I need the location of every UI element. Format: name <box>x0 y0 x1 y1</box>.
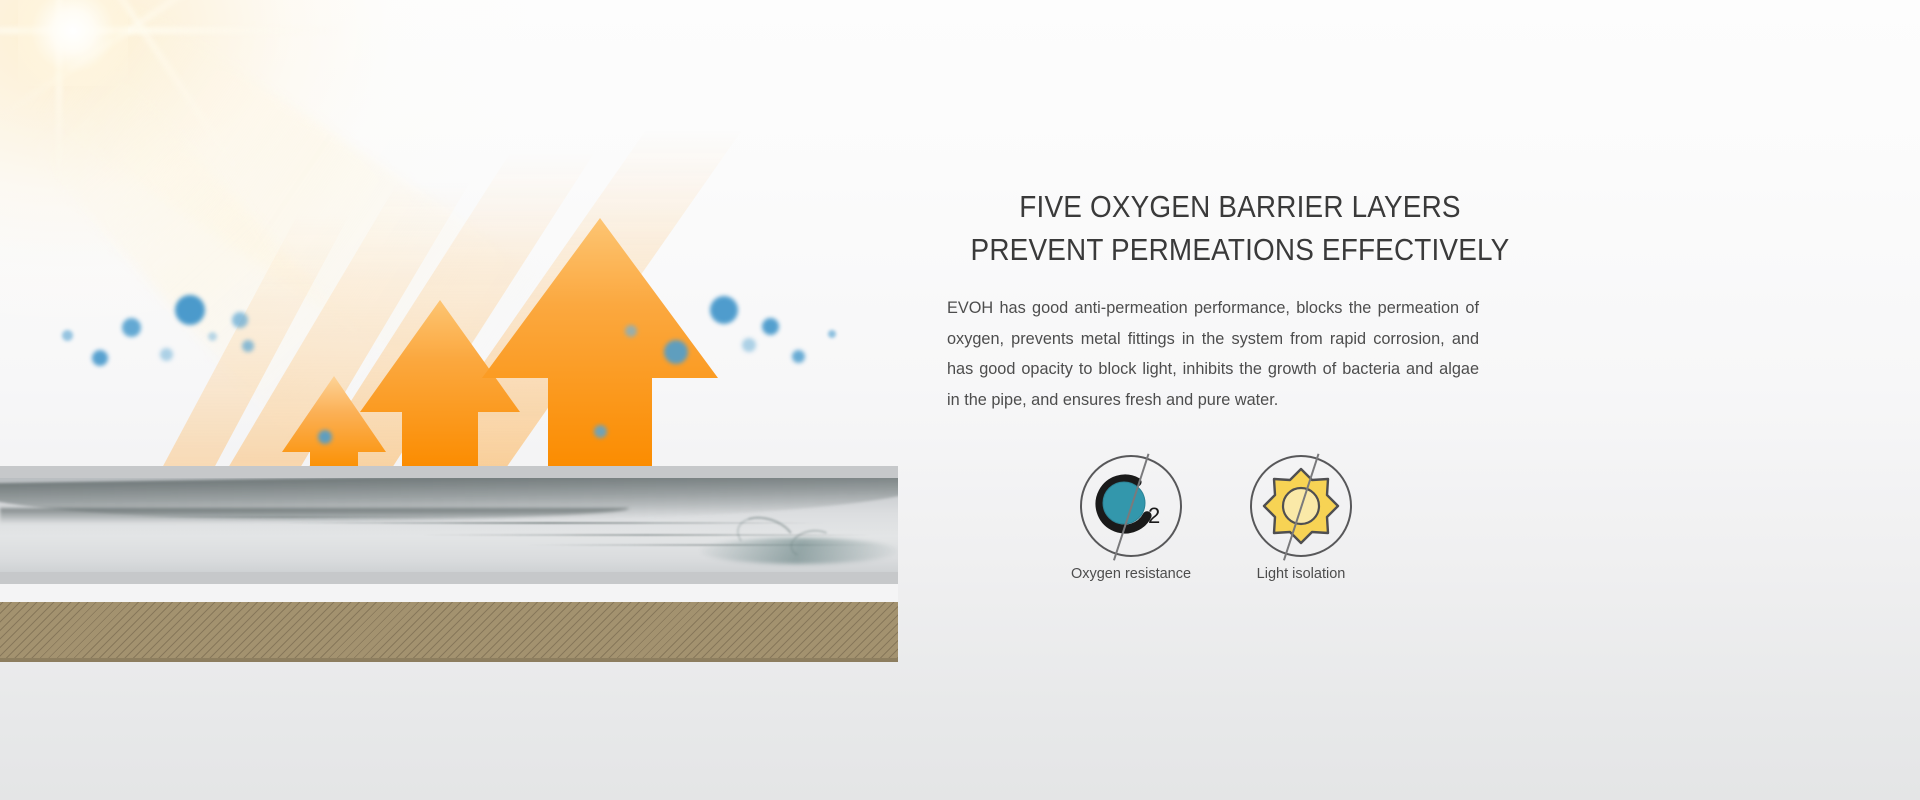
oxygen-o2-icon: 2 <box>1080 455 1182 557</box>
hero-banner: FIVE OXYGEN BARRIER LAYERS PREVENT PERME… <box>0 0 1920 800</box>
page-title: FIVE OXYGEN BARRIER LAYERS PREVENT PERME… <box>961 185 1519 271</box>
arrow-medium <box>360 300 520 468</box>
feature-oxygen-resistance[interactable]: 2 Oxygen resistance <box>1056 455 1206 582</box>
body-paragraph: EVOH has good anti-permeation performanc… <box>947 293 1479 415</box>
svg-text:2: 2 <box>1148 503 1160 528</box>
feature-label: Light isolation <box>1226 566 1376 582</box>
feature-light-isolation[interactable]: Light isolation <box>1226 455 1376 582</box>
sun-burst-icon <box>1250 455 1352 557</box>
arrow-large <box>482 218 718 468</box>
feature-label: Oxygen resistance <box>1056 566 1206 582</box>
arrow-small <box>272 376 398 468</box>
feature-list: 2 Oxygen resistance Light isolation <box>1040 455 1460 575</box>
